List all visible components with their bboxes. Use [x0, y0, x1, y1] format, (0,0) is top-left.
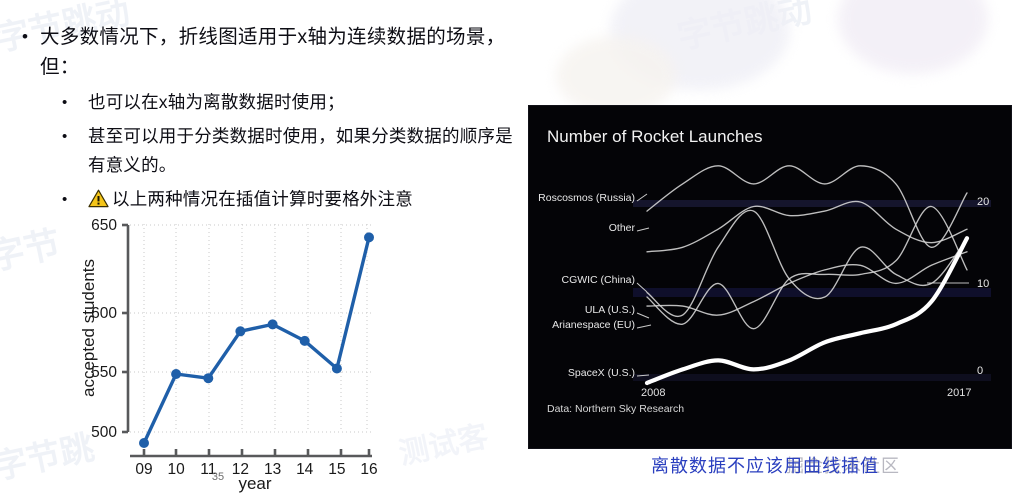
- series-label: SpaceX (U.S.): [568, 367, 635, 379]
- svg-text:650: 650: [91, 217, 117, 234]
- bullet-list: • 大多数情况下，折线图适用于x轴为连续数据的场景，但： • 也可以在x轴为离散…: [0, 22, 528, 222]
- data-point: [139, 438, 149, 448]
- bullet-level2-1: • 也可以在x轴为离散数据时使用；: [62, 88, 528, 117]
- label-leader-lines: [637, 194, 651, 376]
- rocket-launches-chart: Number of Rocket Launches Roscosmos (Rus…: [529, 106, 1011, 448]
- data-point: [203, 373, 213, 383]
- watermark-mid-left: 字节: [0, 215, 65, 281]
- y-axis: [122, 225, 128, 432]
- x-tick-label: 09: [135, 461, 152, 478]
- watermark-illustration-b: [838, 0, 988, 74]
- line-series-markers: [139, 232, 374, 448]
- svg-text:500: 500: [91, 424, 117, 441]
- bullet-marker: •: [62, 185, 88, 214]
- data-point: [235, 326, 245, 336]
- bullet-marker: •: [22, 22, 40, 52]
- line-series-accepted-students: [144, 237, 369, 443]
- bullet-marker: •: [62, 88, 88, 117]
- accepted-students-line-chart: 650 600 550 500 0910111213141516 35 year…: [72, 216, 392, 494]
- y-axis-title: accepted students: [79, 259, 98, 397]
- watermark-top-right: 字节跳动: [672, 0, 815, 59]
- series-label: Arianespace (EU): [552, 319, 635, 331]
- series-curve: [647, 210, 967, 316]
- data-point: [268, 319, 278, 329]
- x-axis-title: year: [238, 474, 271, 493]
- y-tick-labels: 01020: [977, 196, 989, 377]
- data-point: [364, 232, 374, 242]
- stray-axis-label: 35: [212, 471, 224, 483]
- x-tick-label: 15: [328, 461, 345, 478]
- watermark-illustration-a: [610, 0, 790, 90]
- bullet-level1: • 大多数情况下，折线图适用于x轴为连续数据的场景，但：: [22, 22, 528, 82]
- y-tick-label: 0: [977, 365, 983, 377]
- x-tick-label: 14: [296, 461, 314, 478]
- x-tick-labels: 20082017: [641, 387, 971, 399]
- source-note: Data: Northern Sky Research: [547, 403, 684, 415]
- series-curve: [647, 206, 967, 328]
- bullet-sublist: • 也可以在x轴为离散数据时使用； • 甚至可以用于分类数据时使用，如果分类数据…: [62, 88, 528, 217]
- x-tick-label: 10: [167, 461, 185, 478]
- x-tick-label-end: 2017: [947, 387, 971, 399]
- x-axis: [130, 449, 372, 456]
- line-chart-svg: 650 600 550 500 0910111213141516 35 year…: [72, 216, 392, 494]
- y-tick-label: 10: [977, 278, 989, 290]
- data-point: [171, 369, 181, 379]
- bullet-marker: •: [62, 122, 88, 151]
- slide-caption: 离散数据不应该用曲线插值: [651, 452, 879, 478]
- warning-triangle-icon: [88, 188, 109, 217]
- x-tick-label-start: 2008: [641, 387, 665, 399]
- rocket-series-group: [647, 166, 967, 383]
- series-label: ULA (U.S.): [585, 304, 635, 316]
- x-tick-label: 16: [360, 461, 377, 478]
- series-curve: [647, 201, 967, 251]
- series-label: Other: [609, 222, 636, 234]
- bullet-level2-3: • 以上两种情况在插值计算时要格外注意: [62, 185, 528, 217]
- bullet-level2-text-3: 以上两种情况在插值计算时要格外注意: [112, 189, 413, 209]
- chart-title: Number of Rocket Launches: [547, 127, 762, 146]
- bullet-level2-text-1: 也可以在x轴为离散数据时使用；: [88, 88, 528, 117]
- rocket-chart-svg: Number of Rocket Launches Roscosmos (Rus…: [529, 106, 1011, 448]
- watermark-illustration-c: [556, 36, 676, 116]
- series-curve: [647, 252, 967, 315]
- series-label: Roscosmos (Russia): [538, 192, 635, 204]
- bullet-level2-text-2: 甚至可以用于分类数据时使用，如果分类数据的顺序是有意义的。: [88, 122, 528, 180]
- data-point: [332, 364, 342, 374]
- bullet-level1-text: 大多数情况下，折线图适用于x轴为连续数据的场景，但：: [40, 22, 528, 82]
- watermark-center: 测试客: [394, 411, 491, 473]
- series-labels: Roscosmos (Russia)OtherCGWIC (China)ULA …: [538, 192, 635, 379]
- bullet-level2-2: • 甚至可以用于分类数据时使用，如果分类数据的顺序是有意义的。: [62, 122, 528, 180]
- y-tick-label: 20: [977, 196, 989, 208]
- series-label: CGWIC (China): [561, 274, 635, 286]
- data-point: [300, 336, 310, 346]
